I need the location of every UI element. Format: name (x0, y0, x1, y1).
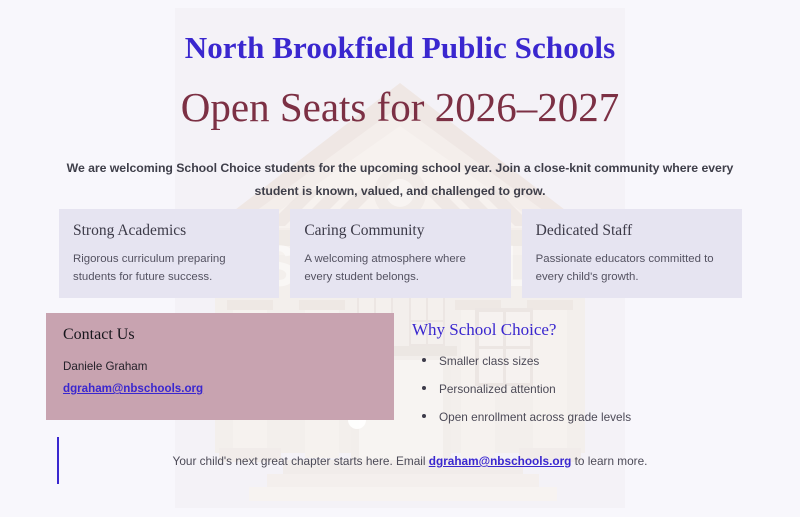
card-body: A welcoming atmosphere where every stude… (304, 250, 496, 287)
accent-bar (57, 437, 59, 484)
footer-trail: to learn more. (571, 454, 647, 468)
why-benefits-list: Smaller class sizes Personalized attenti… (412, 353, 752, 425)
why-school-choice-section: Why School Choice? Smaller class sizes P… (412, 320, 752, 437)
contact-title: Contact Us (63, 325, 394, 344)
feature-card-academics: Strong Academics Rigorous curriculum pre… (59, 209, 279, 298)
flyer-page: SCHOOL (0, 0, 800, 517)
card-title: Dedicated Staff (536, 222, 728, 241)
list-item: Smaller class sizes (412, 353, 752, 370)
list-item: Personalized attention (412, 381, 752, 398)
card-title: Caring Community (304, 222, 496, 241)
contact-email-link[interactable]: dgraham@nbschools.org (63, 380, 203, 397)
list-item-label: Smaller class sizes (439, 354, 539, 368)
footer-text: Your child's next great chapter starts h… (80, 453, 740, 471)
card-title: Strong Academics (73, 222, 265, 241)
contact-box: Contact Us Daniele Graham dgraham@nbscho… (46, 313, 394, 420)
school-name-title: North Brookfield Public Schools (0, 31, 800, 65)
contact-name: Daniele Graham (63, 358, 394, 376)
card-body: Passionate educators committed to every … (536, 250, 728, 287)
why-section-title: Why School Choice? (412, 320, 752, 340)
feature-card-community: Caring Community A welcoming atmosphere … (290, 209, 510, 298)
bullet-icon (422, 386, 426, 390)
page-title: Open Seats for 2026–2027 (0, 84, 800, 131)
feature-cards: Strong Academics Rigorous curriculum pre… (59, 209, 742, 298)
footer-lead: Your child's next great chapter starts h… (173, 454, 429, 468)
list-item-label: Open enrollment across grade levels (439, 410, 631, 424)
list-item-label: Personalized attention (439, 382, 556, 396)
bullet-icon (422, 414, 426, 418)
bullet-icon (422, 358, 426, 362)
feature-card-staff: Dedicated Staff Passionate educators com… (522, 209, 742, 298)
card-body: Rigorous curriculum preparing students f… (73, 250, 265, 287)
intro-paragraph: We are welcoming School Choice students … (57, 157, 743, 202)
list-item: Open enrollment across grade levels (412, 409, 752, 426)
footer-email-link[interactable]: dgraham@nbschools.org (429, 454, 572, 468)
